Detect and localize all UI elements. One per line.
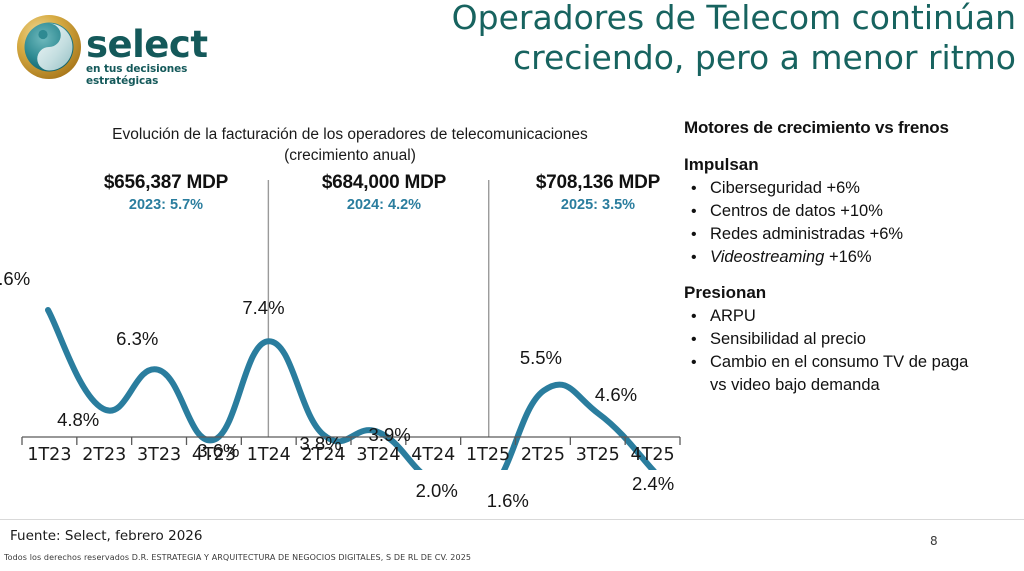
footer-source: Fuente: Select, febrero 2026 [10,528,202,544]
x-axis-label: 2T23 [77,445,132,465]
bullet-icon: • [691,328,697,351]
driver-text: Ciberseguridad +6% [710,179,860,197]
brake-text-continued: vs video bajo demanda [710,374,1020,397]
driver-text: Redes administradas +6% [710,225,903,243]
data-point-label: 3.9% [369,424,411,446]
list-item: • Sensibilidad al precio [684,328,1020,351]
plot-svg [0,110,700,470]
slide-title-line1: Operadores de Telecom continúan [396,0,1016,38]
brand-tagline: en tus decisiones estratégicas [86,63,224,87]
bullet-icon: • [691,177,697,200]
bullet-icon: • [691,200,697,223]
brake-text: Cambio en el consumo TV de paga [710,353,968,371]
x-axis-label: 4T24 [406,445,461,465]
x-axis-label: 1T25 [461,445,516,465]
list-item: • Centros de datos +10% [684,200,1020,223]
x-axis-label: 1T23 [22,445,77,465]
data-point-label: 4.8% [57,409,99,431]
chart-region: Evolución de la facturación de los opera… [0,110,700,470]
x-axis-label: 1T24 [241,445,296,465]
slide-title: Operadores de Telecom continúan creciend… [396,0,1016,78]
panel-title: Motores de crecimiento vs frenos [684,118,1020,138]
x-axis [22,437,680,445]
brand-wordmark: select [86,26,224,64]
list-item: • Redes administradas +6% [684,223,1020,246]
bullet-icon: • [691,351,697,374]
x-axis-label: 3T24 [351,445,406,465]
bullet-icon: • [691,223,697,246]
page-number: 8 [930,534,938,548]
footer-divider [0,519,1024,520]
brand-logo: select en tus decisiones estratégicas [14,10,224,82]
list-item: • Cambio en el consumo TV de paga vs vid… [684,351,1020,397]
x-axis-labels: 1T232T233T234T231T242T243T244T241T252T25… [0,445,700,477]
bullet-icon: • [691,305,697,328]
driver-text: +16% [824,248,871,266]
brake-text: Sensibilidad al precio [710,330,866,348]
brakes-list: • ARPU • Sensibilidad al precio • Cambio… [684,305,1020,397]
data-point-label: 7.4% [242,297,284,319]
driver-text-italic: Videostreaming [710,248,824,266]
insights-panel: Motores de crecimiento vs frenos Impulsa… [684,118,1020,411]
data-point-label: 5.5% [520,347,562,369]
drivers-heading: Impulsan [684,155,1020,175]
select-logo-icon [14,12,84,82]
brand-wordmark-block: select en tus decisiones estratégicas [86,26,224,87]
x-axis-label: 2T25 [516,445,571,465]
brakes-heading: Presionan [684,283,1020,303]
data-point-label: 1.6% [487,490,529,512]
driver-text: Centros de datos +10% [710,202,883,220]
line-plot: 8.6%4.8%6.3%3.6%7.4%3.8%3.9%2.0%1.6%5.5%… [0,110,700,470]
bullet-icon: • [691,246,697,269]
brake-text: ARPU [710,307,756,325]
x-axis-label: 4T25 [625,445,680,465]
list-item: • Ciberseguridad +6% [684,177,1020,200]
data-point-label: 6.3% [116,328,158,350]
list-item: • Videostreaming +16% [684,246,1020,269]
x-axis-label: 4T23 [187,445,242,465]
data-point-label: 2.0% [416,480,458,502]
x-axis-label: 3T23 [132,445,187,465]
data-point-label: 4.6% [595,384,637,406]
slide: select en tus decisiones estratégicas Op… [0,0,1024,571]
footer-copyright: Todos los derechos reservados D.R. ESTRA… [4,553,471,562]
list-item: • ARPU [684,305,1020,328]
x-axis-label: 2T24 [296,445,351,465]
x-axis-label: 3T25 [570,445,625,465]
slide-title-line2: creciendo, pero a menor ritmo [396,38,1016,78]
drivers-list: • Ciberseguridad +6% • Centros de datos … [684,177,1020,269]
data-point-label: 8.6% [0,268,30,290]
